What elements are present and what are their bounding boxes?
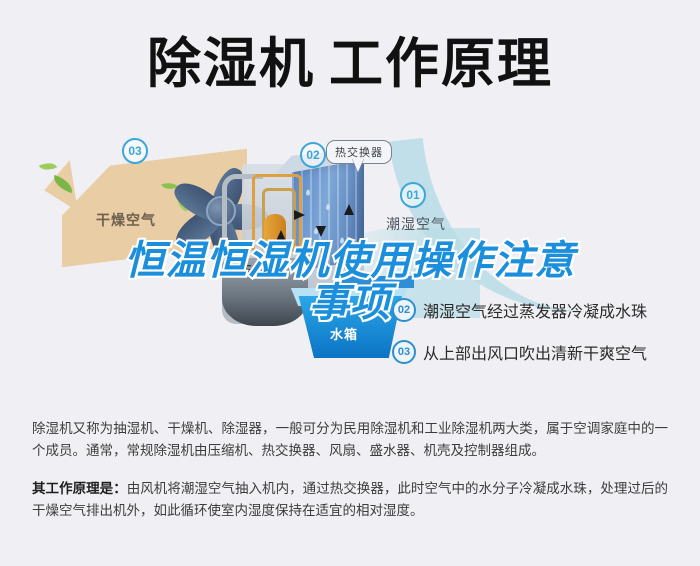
page-root: 除湿机工作原理 干燥空气 xyxy=(0,0,700,566)
page-title: 除湿机工作原理 xyxy=(0,28,700,100)
humid-air-label: 潮湿空气 xyxy=(386,214,446,234)
body-copy: 除湿机又称为抽湿机、干燥机、除湿器，一般可分为民用除湿机和工业除湿机两大类，属于… xyxy=(32,418,668,538)
title-text-group: 除湿机工作原理 xyxy=(147,37,553,91)
legend-label: 从上部出风口吹出清新干爽空气 xyxy=(423,340,647,364)
water-tank-label: 水箱 xyxy=(330,324,358,343)
legend-label: 潮湿空气经过蒸发器冷凝成水珠 xyxy=(423,298,647,322)
paragraph-two-rest: 由风机将潮湿空气抽入机内，通过热交换器，此时空气中的水分子冷凝成水珠，处理过后的… xyxy=(32,481,668,518)
list-item: 02 潮湿空气经过蒸发器冷凝成水珠 xyxy=(392,298,692,322)
dry-air-label: 干燥空气 xyxy=(96,210,156,230)
flow-arrow-icon xyxy=(344,204,354,215)
compressor-label: 压缩机 xyxy=(240,262,276,278)
list-item: 03 从上部出风口吹出清新干爽空气 xyxy=(392,340,692,364)
paragraph-two-lead: 其工作原理是： xyxy=(32,481,127,496)
flow-arrow-icon xyxy=(294,210,305,220)
paragraph-one: 除湿机又称为抽湿机、干燥机、除湿器，一般可分为民用除湿机和工业除湿机两大类，属于… xyxy=(32,418,668,462)
legend-list: 02 潮湿空气经过蒸发器冷凝成水珠 03 从上部出风口吹出清新干爽空气 xyxy=(392,298,692,382)
diagram-marker-02: 02 xyxy=(300,142,326,168)
flow-arrow-icon xyxy=(276,230,286,241)
title-part-one: 除湿机 xyxy=(147,34,315,94)
humid-air-inflow-arrow-tip-icon xyxy=(334,270,350,294)
title-part-two: 工作原理 xyxy=(329,34,553,94)
flow-arrow-icon xyxy=(316,226,326,237)
humid-air-inflow-arrow-icon xyxy=(348,276,414,288)
diagram-marker-03: 03 xyxy=(122,138,148,164)
diagram-marker-01: 01 xyxy=(400,182,426,208)
legend-number: 03 xyxy=(392,340,416,364)
legend-number: 02 xyxy=(392,298,416,322)
paragraph-two: 其工作原理是：由风机将潮湿空气抽入机内，通过热交换器，此时空气中的水分子冷凝成水… xyxy=(32,478,668,522)
heat-exchanger-callout-tail-icon xyxy=(352,158,364,172)
